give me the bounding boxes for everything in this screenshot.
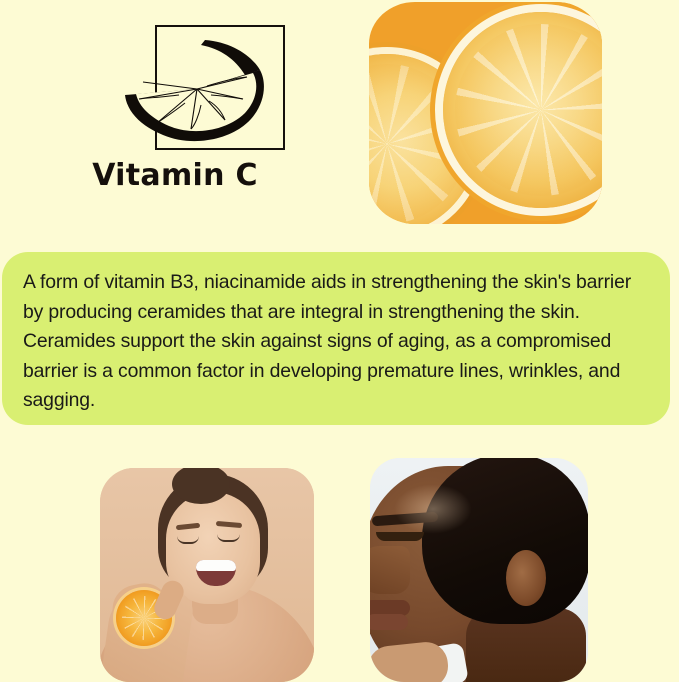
man-skin-highlight	[394, 484, 472, 534]
man-hair	[422, 458, 588, 624]
man-eye	[376, 532, 424, 541]
description-panel: A form of vitamin B3, niacinamide aids i…	[2, 252, 670, 425]
woman-with-orange-photo	[100, 468, 314, 682]
man-hand	[370, 640, 450, 682]
woman-teeth	[196, 560, 236, 571]
citrus-photo-content	[369, 2, 602, 224]
lemon-wedge-icon	[119, 37, 269, 147]
lemon-wedge-logo-mark	[155, 25, 285, 150]
man-profile-photo	[370, 458, 588, 682]
citrus-photo	[369, 2, 602, 224]
man-nose	[370, 546, 410, 594]
man-lower-lip	[370, 614, 408, 630]
man-ear	[506, 550, 546, 606]
page-title: Vitamin C	[0, 158, 350, 193]
vitamin-c-logo-block: Vitamin C	[0, 0, 350, 240]
description-text: A form of vitamin B3, niacinamide aids i…	[23, 268, 650, 416]
infographic-page: Vitamin C A form of vitamin B3, niacinam…	[0, 0, 679, 682]
